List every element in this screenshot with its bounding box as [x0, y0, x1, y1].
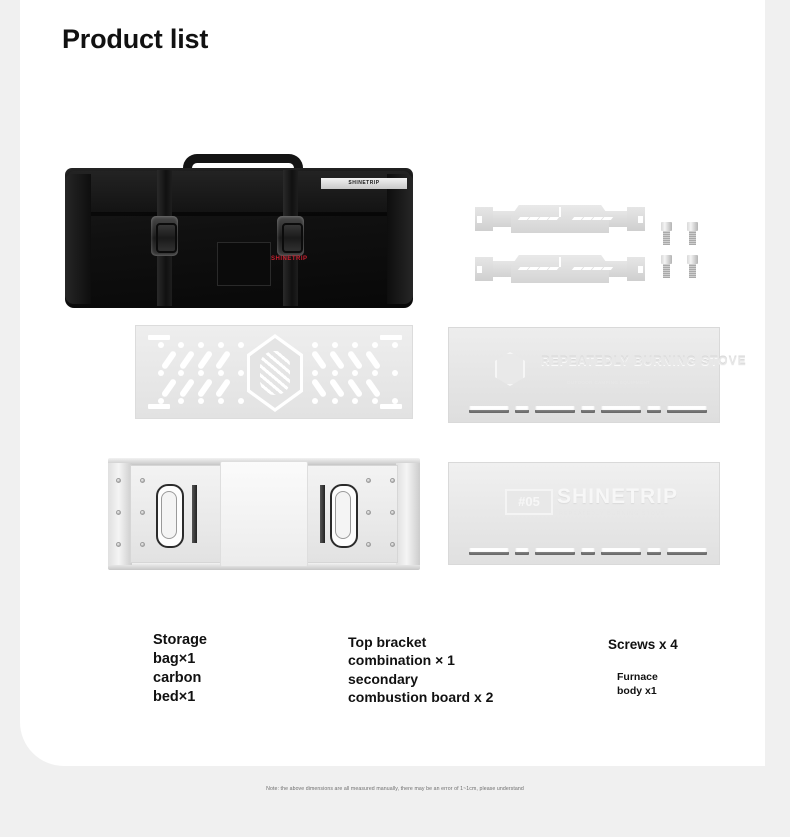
vent-slot — [535, 406, 575, 413]
carbon-bed-hole — [312, 342, 318, 348]
product-image-furnace-body: #05 SHINETRIP REPEATEDLY BURNING STOVE — [448, 462, 720, 565]
bracket-center-slit — [559, 207, 561, 217]
screw-shaft — [689, 231, 696, 245]
top-bracket-screw — [140, 542, 145, 547]
carbon-bed-slot — [311, 378, 327, 398]
top-bracket-handle-left — [156, 484, 184, 548]
carbon-bed-slot — [329, 378, 345, 398]
carbon-bed-slot — [365, 350, 381, 370]
top-bracket-bar-left — [192, 485, 197, 543]
bracket-upper — [475, 205, 645, 233]
product-image-storage-bag: SHINETRIP SHINETRIP — [65, 168, 413, 308]
label-screws: Screws x 4 — [608, 636, 678, 654]
bag-velcro-patch — [217, 242, 271, 286]
vent-slot — [581, 548, 595, 555]
carbon-bed-slot — [347, 378, 363, 398]
screw-shaft — [663, 231, 670, 245]
screw-head — [661, 222, 672, 231]
carbon-bed-hole — [372, 398, 378, 404]
product-list-page: Product list SHINETRIP SHINETRIP — [0, 0, 790, 837]
carbon-bed-hole — [198, 342, 204, 348]
carbon-bed-slot — [179, 378, 195, 398]
carbon-bed-hole — [392, 398, 398, 404]
bag-logo-text: SHINETRIP — [271, 256, 308, 262]
carbon-bed-hole — [238, 370, 244, 376]
bracket-center-slit — [559, 257, 561, 267]
combustion-board-subtitle-2: OUTDOOR CAMPING EQUIPMENT — [567, 380, 650, 385]
label-top-bracket: Top bracket combination × 1 secondary co… — [348, 633, 493, 707]
vent-slot — [647, 548, 661, 555]
bag-buckle-left — [151, 216, 178, 256]
label-furnace-body: Furnace body x1 — [617, 671, 658, 699]
carbon-bed-hole — [352, 342, 358, 348]
combustion-board-title: REPEATEDLY BURNING STOVE — [541, 354, 747, 368]
carbon-bed-hole — [392, 370, 398, 376]
screw-shaft — [689, 264, 696, 278]
vent-slot — [515, 548, 529, 555]
carbon-bed-hole — [158, 370, 164, 376]
disclaimer-text: Note: the above dimensions are all measu… — [0, 786, 790, 792]
carbon-bed-hole — [178, 342, 184, 348]
carbon-bed-bar — [380, 335, 402, 340]
bracket-lower — [475, 255, 645, 283]
carbon-bed-logo-badge — [247, 334, 303, 412]
carbon-bed-hole — [178, 398, 184, 404]
top-bracket-screw — [116, 542, 121, 547]
top-bracket-handle-right — [330, 484, 358, 548]
bracket-notch-left — [477, 216, 482, 223]
carbon-bed-hole — [158, 342, 164, 348]
screw-head — [661, 255, 672, 264]
carbon-bed-slot — [329, 350, 345, 370]
top-bracket-screw — [390, 510, 395, 515]
page-title: Product list — [62, 24, 208, 55]
vent-slot — [535, 548, 575, 555]
carbon-bed-hole — [218, 342, 224, 348]
carbon-bed-slot — [311, 350, 327, 370]
top-bracket-screw — [140, 510, 145, 515]
carbon-bed-slot — [197, 378, 213, 398]
top-bracket-screw — [366, 510, 371, 515]
product-image-top-bracket — [108, 458, 420, 570]
carbon-bed-slot — [197, 350, 213, 370]
carbon-bed-hole — [352, 370, 358, 376]
vent-slot — [667, 406, 707, 413]
carbon-bed-bar — [148, 335, 170, 340]
vent-slot — [667, 548, 707, 555]
vent-slot — [469, 548, 509, 555]
hexagon-logo-mark — [260, 351, 290, 395]
top-bracket-screw — [366, 478, 371, 483]
top-bracket-screw — [116, 478, 121, 483]
vent-slot — [581, 406, 595, 413]
vent-slot — [601, 548, 641, 555]
screw-item — [660, 255, 673, 278]
carbon-bed-hole — [238, 342, 244, 348]
screw-item — [660, 222, 673, 245]
content-card: Product list SHINETRIP SHINETRIP — [20, 0, 765, 766]
screw-item — [686, 255, 699, 278]
top-bracket-screw — [390, 478, 395, 483]
vent-slot — [469, 406, 509, 413]
screw-shaft — [663, 264, 670, 278]
vent-slot — [647, 406, 661, 413]
carbon-bed-hole — [198, 370, 204, 376]
carbon-bed-hole — [158, 398, 164, 404]
screw-item — [686, 222, 699, 245]
bag-side-panel-left — [65, 174, 91, 304]
handle-inner — [161, 491, 177, 539]
carbon-bed-bar — [148, 404, 170, 409]
top-bracket-bar-right — [320, 485, 325, 543]
label-storage-bag: Storage bag×1 carbon bed×1 — [153, 631, 207, 708]
carbon-bed-hole — [198, 398, 204, 404]
furnace-brand-text: SHINETRIP — [557, 485, 678, 509]
carbon-bed-slot — [365, 378, 381, 398]
top-bracket-center-plate — [220, 461, 308, 567]
combustion-board-subtitle: REPEATEDLY BURNING STOVE SHINETRIP — [541, 370, 664, 376]
bracket-notch-right — [638, 216, 643, 223]
top-bracket-screw — [366, 542, 371, 547]
carbon-bed-hole — [312, 398, 318, 404]
vent-slot — [515, 406, 529, 413]
bag-side-panel-right — [387, 174, 413, 304]
carbon-bed-hole — [332, 398, 338, 404]
carbon-bed-slot — [161, 378, 177, 398]
carbon-bed-hole — [238, 398, 244, 404]
bracket-notch-left — [477, 266, 482, 273]
bag-buckle-right — [277, 216, 304, 256]
top-bracket-screw — [140, 478, 145, 483]
furnace-subtitle: REPEATEDLY BURNING STOVE — [559, 511, 665, 517]
carbon-bed-slot — [161, 350, 177, 370]
carbon-bed-slot — [347, 350, 363, 370]
combustion-board-logo-badge — [495, 352, 525, 386]
screw-head — [687, 255, 698, 264]
bag-brand-tag: SHINETRIP — [321, 178, 407, 189]
product-image-screws — [660, 222, 706, 280]
carbon-bed-slot — [215, 378, 231, 398]
product-image-carbon-bed — [135, 325, 413, 419]
carbon-bed-hole — [392, 342, 398, 348]
bracket-notch-right — [638, 266, 643, 273]
screw-head — [687, 222, 698, 231]
carbon-bed-slot — [215, 350, 231, 370]
product-image-brackets — [475, 205, 645, 283]
carbon-bed-hole — [352, 398, 358, 404]
top-bracket-screw — [390, 542, 395, 547]
bag-lid-edge — [68, 212, 410, 216]
carbon-bed-hole — [312, 370, 318, 376]
furnace-model-tag: #05 — [505, 489, 553, 515]
carbon-bed-slot — [179, 350, 195, 370]
carbon-bed-hole — [332, 370, 338, 376]
carbon-bed-hole — [332, 342, 338, 348]
top-bracket-screw — [116, 510, 121, 515]
carbon-bed-hole — [178, 370, 184, 376]
carbon-bed-hole — [372, 342, 378, 348]
carbon-bed-hole — [218, 370, 224, 376]
vent-slot — [601, 406, 641, 413]
handle-inner — [335, 491, 351, 539]
product-image-combustion-board: REPEATEDLY BURNING STOVE REPEATEDLY BURN… — [448, 327, 720, 423]
carbon-bed-bar — [380, 404, 402, 409]
carbon-bed-hole — [218, 398, 224, 404]
top-bracket-side-right — [396, 463, 420, 565]
carbon-bed-hole — [372, 370, 378, 376]
